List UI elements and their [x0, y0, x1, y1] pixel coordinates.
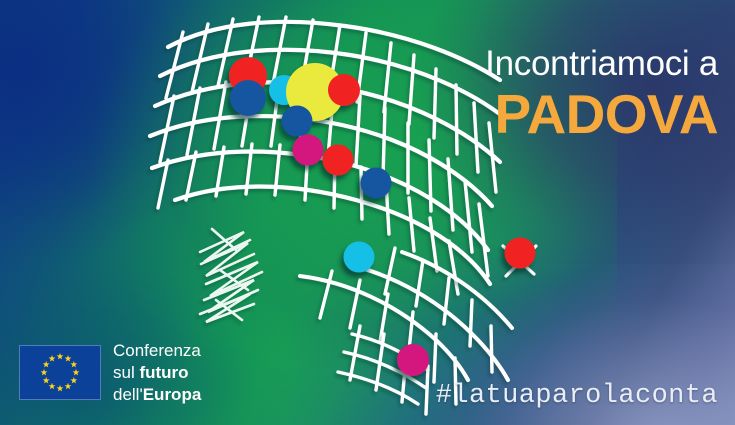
campaign-hashtag: #latuaparolaconta — [436, 381, 718, 411]
eu-star-1 — [57, 353, 64, 360]
zigzag-scribble — [200, 229, 262, 322]
eu-logo-text: Conferenza sul futuro dell'Europa — [113, 340, 201, 406]
logo-line-3-plain: dell' — [113, 385, 143, 404]
dot-magenta-2 — [397, 344, 429, 376]
dot-blue-3 — [361, 168, 392, 199]
eu-logo-lockup: Conferenza sul futuro dell'Europa — [19, 340, 201, 406]
eu-star-12 — [49, 355, 56, 362]
dot-blue-1 — [230, 80, 266, 116]
logo-line-3-bold: Europa — [143, 385, 202, 404]
logo-line-1: Conferenza — [113, 340, 201, 362]
dot-cyan-2 — [344, 242, 375, 273]
campaign-banner: Incontriamoci a PADOVA #latuaparolaconta… — [0, 0, 735, 425]
logo-line-2: sul futuro — [113, 362, 201, 384]
dot-blue-2 — [282, 106, 313, 137]
eu-star-2 — [65, 355, 72, 362]
dot-red-2 — [328, 74, 360, 106]
logo-line-2-plain: sul — [113, 363, 139, 382]
dot-red-4 — [505, 238, 536, 269]
logo-line-2-bold: futuro — [139, 363, 188, 382]
european-union-flag-icon — [19, 345, 101, 400]
eu-star-7 — [57, 385, 64, 392]
eu-star-11 — [43, 361, 50, 368]
dot-magenta-1 — [293, 135, 324, 166]
eu-star-5 — [70, 377, 77, 384]
eu-star-4 — [73, 369, 80, 376]
headline-line2: PADOVA — [485, 87, 718, 142]
eu-star-9 — [43, 377, 50, 384]
eu-star-3 — [70, 361, 77, 368]
eu-star-6 — [65, 383, 72, 390]
dot-red-3 — [323, 145, 354, 176]
headline-block: Incontriamoci a PADOVA — [485, 46, 718, 142]
eu-star-8 — [49, 383, 56, 390]
eu-star-10 — [41, 369, 48, 376]
logo-line-3: dell'Europa — [113, 384, 201, 406]
headline-line1: Incontriamoci a — [485, 46, 718, 81]
